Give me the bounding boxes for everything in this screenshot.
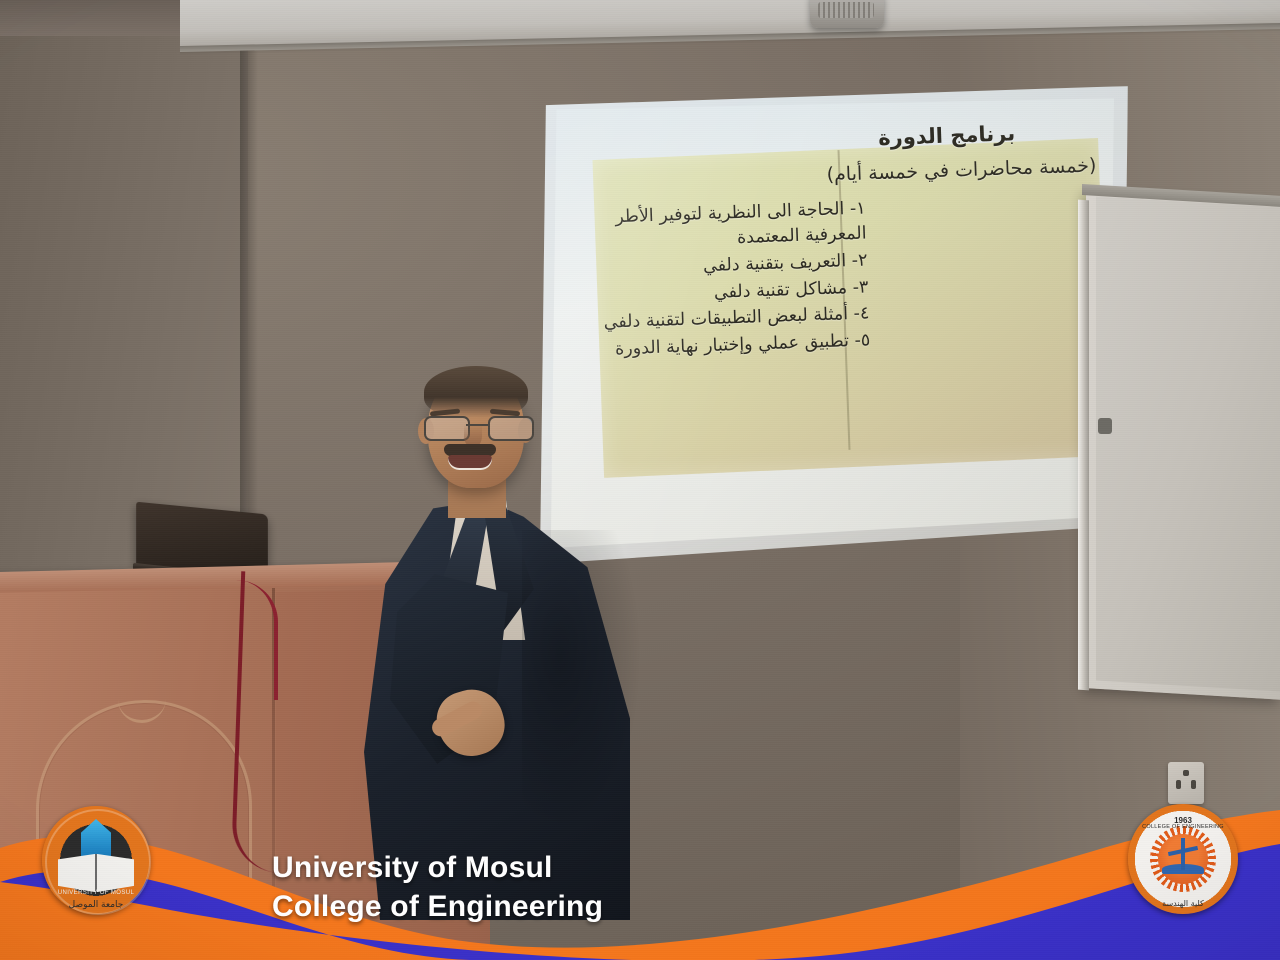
presenter <box>372 360 652 920</box>
banner-line-1: University of Mosul <box>272 849 603 887</box>
logo-emblem-core <box>1158 834 1208 884</box>
socket-hole <box>1183 770 1189 776</box>
whiteboard-surface <box>1096 197 1280 692</box>
college-of-engineering-logo: 1963 COLLEGE OF ENGINEERING كلية الهندسة <box>1128 804 1238 914</box>
logo-arabic-text: كلية الهندسة <box>1128 899 1238 908</box>
socket-hole <box>1191 780 1196 789</box>
slide-agenda-list: ١- الحاجة الى النظرية لتوفير الأطر المعر… <box>565 197 870 366</box>
glasses-lens-right <box>488 416 534 441</box>
tower-icon <box>1181 838 1185 870</box>
university-of-mosul-logo: UNIVERSITY OF MOSUL جامعة الموصل <box>42 806 150 914</box>
presenter-mouth <box>448 455 492 470</box>
projector-vents <box>818 2 874 18</box>
wall-socket-icon <box>1168 762 1204 804</box>
slide-title: برنامج الدورة <box>878 121 1016 150</box>
banner-title: University of Mosul College of Engineeri… <box>272 849 603 926</box>
whiteboard-side-edge <box>1078 200 1089 691</box>
logo-latin-text: UNIVERSITY OF MOSUL <box>42 890 150 896</box>
banner-line-2: College of Engineering <box>272 888 603 926</box>
logo-arabic-text: جامعة الموصل <box>42 900 150 910</box>
socket-hole <box>1176 780 1181 789</box>
logo-latin-text: COLLEGE OF ENGINEERING <box>1128 824 1238 830</box>
slide-agenda-item: ١- الحاجة الى النظرية لتوفير الأطر المعر… <box>565 197 867 257</box>
photo-canvas: برنامج الدورة (خمسة محاضرات في خمسة أيام… <box>0 0 1280 960</box>
whiteboard-marker-clip <box>1098 418 1112 434</box>
book-spine <box>95 854 97 892</box>
slide-subtitle: (خمسة محاضرات في خمسة أيام) <box>824 152 1097 188</box>
